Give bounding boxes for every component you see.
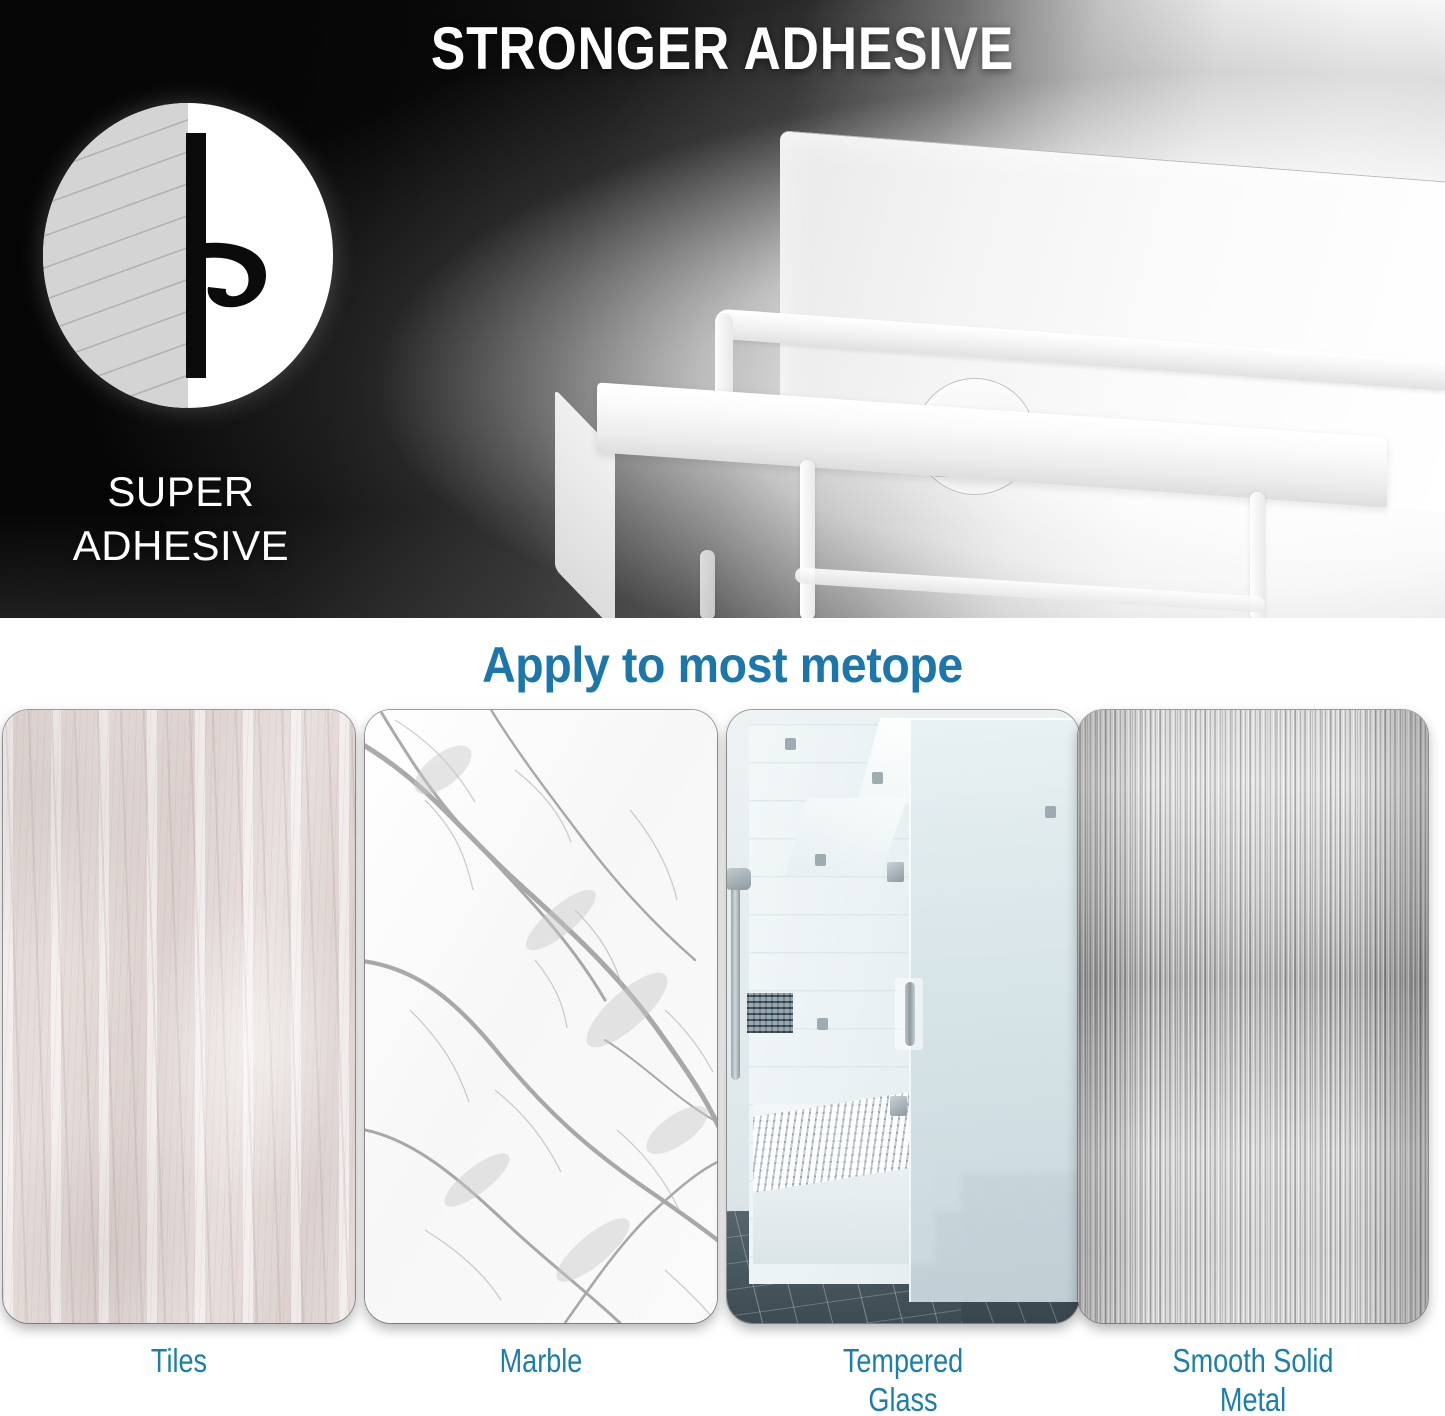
material-swatch-tempered-glass: Tempered Glass: [727, 710, 1079, 1323]
product-infographic: STRONGER ADHESIVE SUPER ADHESIVE: [0, 0, 1445, 1416]
brushed-metal-texture: [1078, 710, 1428, 1323]
glass-clamp: [872, 772, 883, 784]
marble-texture: [365, 710, 717, 1323]
adhesive-hook-on-wall-icon: [43, 103, 333, 408]
swatch-image-smooth-solid-metal: [1078, 710, 1428, 1323]
glass-hinge: [890, 1096, 907, 1116]
section-title: Apply to most metope: [51, 636, 1395, 694]
glass-clamp: [815, 854, 826, 866]
shelf-cross-bar: [795, 567, 1265, 613]
hook-icon: [204, 239, 276, 313]
swatch-label-marble: Marble: [397, 1342, 686, 1381]
shelf-leg: [700, 550, 715, 618]
tempered-glass-texture: [727, 710, 1079, 1323]
mosaic-niche: [747, 993, 793, 1033]
material-swatch-tiles: Tiles: [3, 710, 355, 1323]
hero-title: STRONGER ADHESIVE: [101, 14, 1344, 83]
door-handle: [905, 982, 915, 1046]
swatch-image-tiles: [3, 710, 355, 1323]
glass-hinge: [887, 862, 904, 882]
tiles-texture: [3, 710, 355, 1323]
wall-hatch-icon: [43, 103, 188, 408]
shelf-leg: [800, 460, 815, 618]
material-swatch-smooth-solid-metal: Smooth Solid Metal: [1078, 710, 1428, 1323]
swatch-label-tiles: Tiles: [35, 1342, 324, 1381]
glass-clamp: [817, 1018, 828, 1030]
shower-arm: [731, 880, 740, 1080]
product-photo: [545, 120, 1445, 618]
swatch-image-tempered-glass: [727, 710, 1079, 1323]
shower-head: [727, 868, 751, 890]
material-swatch-row: Tiles: [0, 710, 1445, 1323]
swatch-label-smooth-solid-metal: Smooth Solid Metal: [1110, 1342, 1397, 1416]
badge-caption: SUPER ADHESIVE: [16, 465, 346, 573]
swatch-label-tempered-glass: Tempered Glass: [759, 1342, 1048, 1416]
material-swatch-marble: Marble: [365, 710, 717, 1323]
hero-section: STRONGER ADHESIVE SUPER ADHESIVE: [0, 0, 1445, 618]
glass-clamp: [785, 738, 796, 750]
apply-section: Apply to most metope Tiles: [0, 618, 1445, 1416]
glass-clamp: [1045, 806, 1056, 818]
swatch-image-marble: [365, 710, 717, 1323]
adhesive-strip-icon: [186, 133, 206, 378]
